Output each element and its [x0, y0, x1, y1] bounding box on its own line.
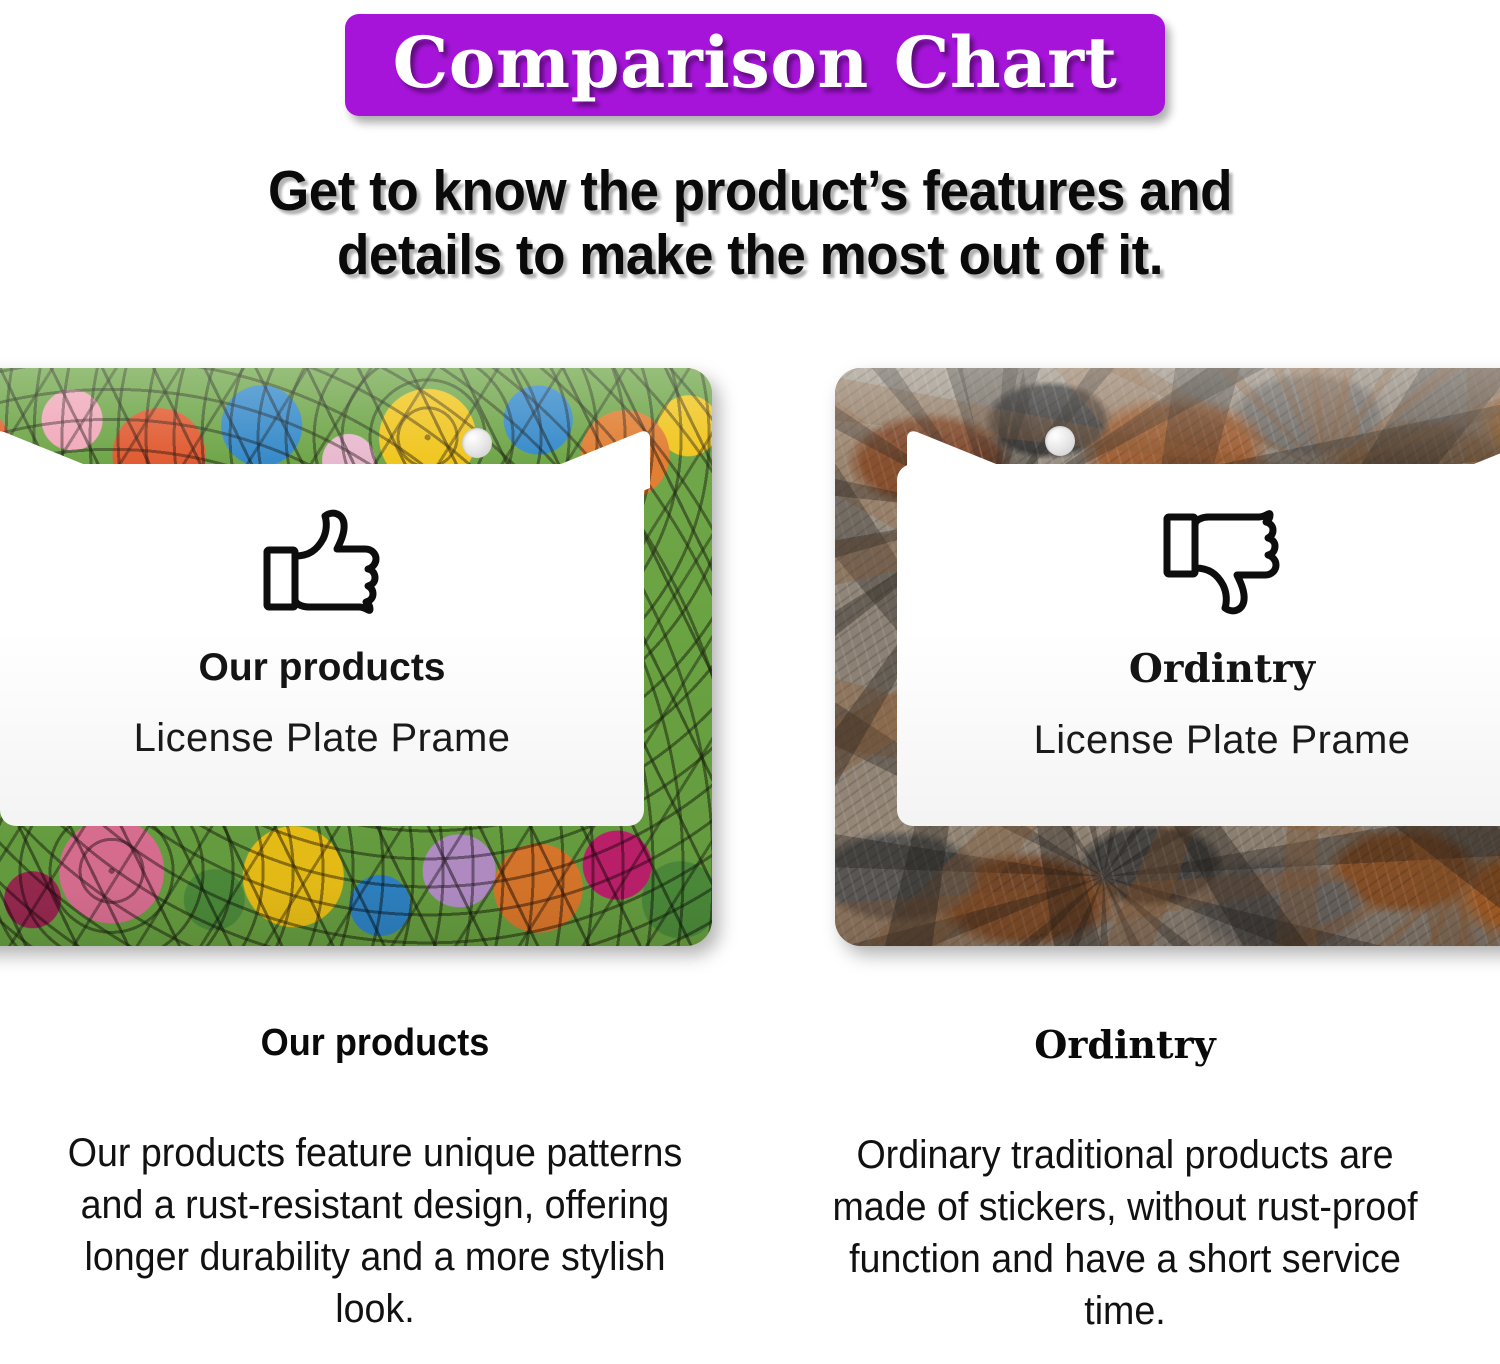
- our-product-heading: Our products: [198, 646, 445, 690]
- ordinary-product-caption-body: Ordinary traditional products are made o…: [816, 1129, 1435, 1337]
- our-product-name: License Plate Prame: [134, 716, 511, 761]
- subtitle-line-1: Get to know the product’s features and: [53, 160, 1448, 224]
- subtitle-line-2: details to make the most out of it.: [53, 224, 1448, 288]
- product-frames-row: Our products License Plate Prame Ordintr…: [0, 368, 1500, 968]
- ordinary-product-heading: Ordintry: [1129, 646, 1315, 692]
- page-title: Comparison Chart: [393, 24, 1118, 102]
- ordinary-product-caption: Ordintry Ordinary traditional products a…: [750, 1022, 1500, 1337]
- ordinary-product-caption-title: Ordintry: [796, 1022, 1454, 1067]
- page-subtitle: Get to know the product’s features and d…: [53, 160, 1448, 288]
- our-product-content: Our products License Plate Prame: [0, 464, 644, 826]
- our-product-caption: Our products Our products feature unique…: [0, 1022, 750, 1337]
- page-header: Comparison Chart Get to know the product…: [0, 0, 1500, 288]
- license-plate-frame-floral: Our products License Plate Prame: [0, 368, 712, 946]
- ordinary-product-content: Ordintry License Plate Prame: [897, 464, 1500, 826]
- mounting-hole-icon: [462, 428, 492, 458]
- license-plate-frame-rusted: Ordintry License Plate Prame: [835, 368, 1500, 946]
- comparison-captions: Our products Our products feature unique…: [0, 1022, 1500, 1337]
- our-product-caption-body: Our products feature unique patterns and…: [66, 1127, 685, 1335]
- thumbs-down-icon: [1161, 506, 1283, 618]
- title-banner: Comparison Chart: [345, 14, 1166, 116]
- thumbs-up-icon: [261, 506, 383, 618]
- ordinary-product-name: License Plate Prame: [1034, 718, 1411, 763]
- our-product-frame: Our products License Plate Prame: [0, 368, 712, 946]
- mounting-hole-icon: [1045, 426, 1075, 456]
- our-product-caption-title: Our products: [62, 1022, 687, 1065]
- ordinary-product-frame: Ordintry License Plate Prame: [835, 368, 1500, 946]
